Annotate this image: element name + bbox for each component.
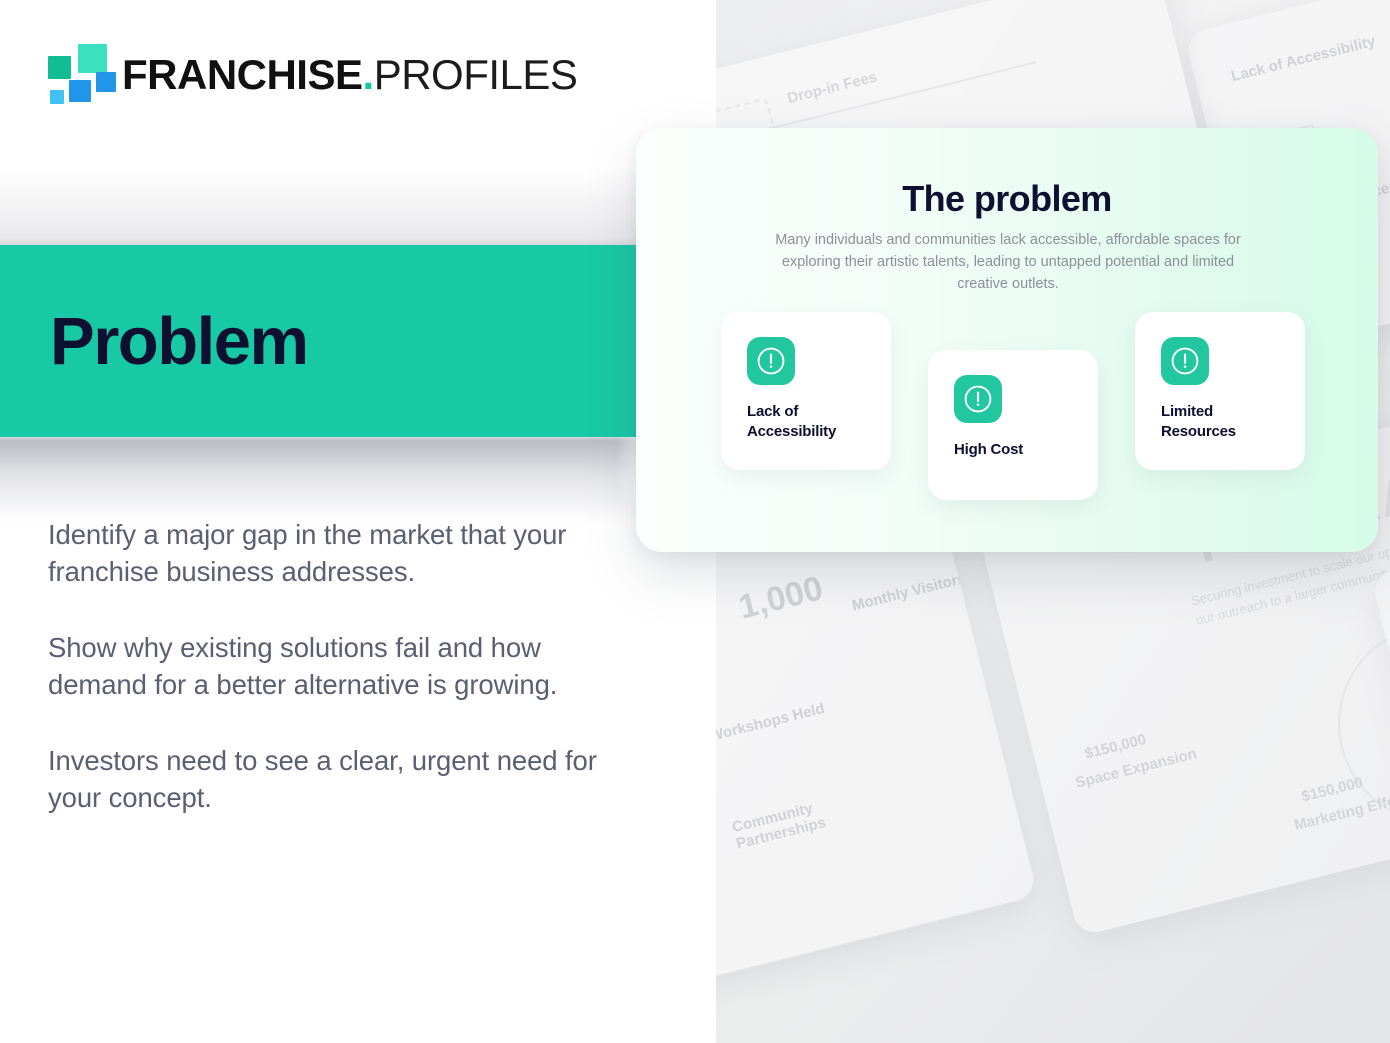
brand-name-bold: FRANCHISE [122,51,363,98]
banner-shadow-bottom [0,437,642,523]
squares-logo-mark-icon [48,44,104,102]
bg-stat-label: Community Partnerships [730,788,864,852]
bg-stat-value: 1,000 [735,569,827,627]
slide-heading: The problem [636,178,1378,220]
feature-card-limited-resources[interactable]: Limited Resources [1135,312,1305,470]
problem-banner: Problem [0,245,637,437]
logo-square-teal-light [78,44,107,73]
feature-card-label: Lack of Accessibility [747,402,877,442]
description-paragraph-3: Investors need to see a clear, urgent ne… [48,742,618,817]
logo-square-blue-light [50,90,64,104]
banner-shadow-top [0,170,650,248]
feature-card-high-cost[interactable]: High Cost [928,350,1098,500]
brand-wordmark: FRANCHISE.PROFILES [122,50,577,96]
page-title: Problem [50,308,308,375]
alert-circle-icon [1161,337,1209,385]
logo-square-blue-mid [69,80,91,102]
description-paragraph-1: Identify a major gap in the market that … [48,516,618,591]
slide-preview-card[interactable]: The problem Many individuals and communi… [636,128,1378,552]
left-panel: FRANCHISE.PROFILES Problem Identify a ma… [0,0,716,1043]
bg-stat-label: Workshops Held [716,700,826,745]
alert-circle-icon [747,337,795,385]
feature-card-label: Limited Resources [1161,402,1291,442]
slide-subtitle: Many individuals and communities lack ac… [764,230,1252,295]
bg-stat-label: Monthly Visitors [850,570,967,615]
logo-square-teal-dark [48,56,71,79]
bg-amount: $150,000 [1300,774,1365,806]
brand-name-dot: . [363,51,374,98]
slide-preview-page: Lack of Accessibility High Cost Limited … [0,0,1390,1043]
brand-logo[interactable]: FRANCHISE.PROFILES [48,44,577,102]
bg-text: Drop-in Fees [786,68,879,107]
description-copy: Identify a major gap in the market that … [48,516,618,816]
alert-circle-icon [954,375,1002,423]
bg-text: Lack of Accessibility [1230,33,1378,85]
logo-square-blue [96,72,116,92]
brand-name-thin: PROFILES [374,51,578,98]
feature-card-lack-of-accessibility[interactable]: Lack of Accessibility [721,312,891,470]
feature-card-label: High Cost [954,440,1084,460]
description-paragraph-2: Show why existing solutions fail and how… [48,629,618,704]
bg-amount: $150,000 [1083,731,1148,763]
